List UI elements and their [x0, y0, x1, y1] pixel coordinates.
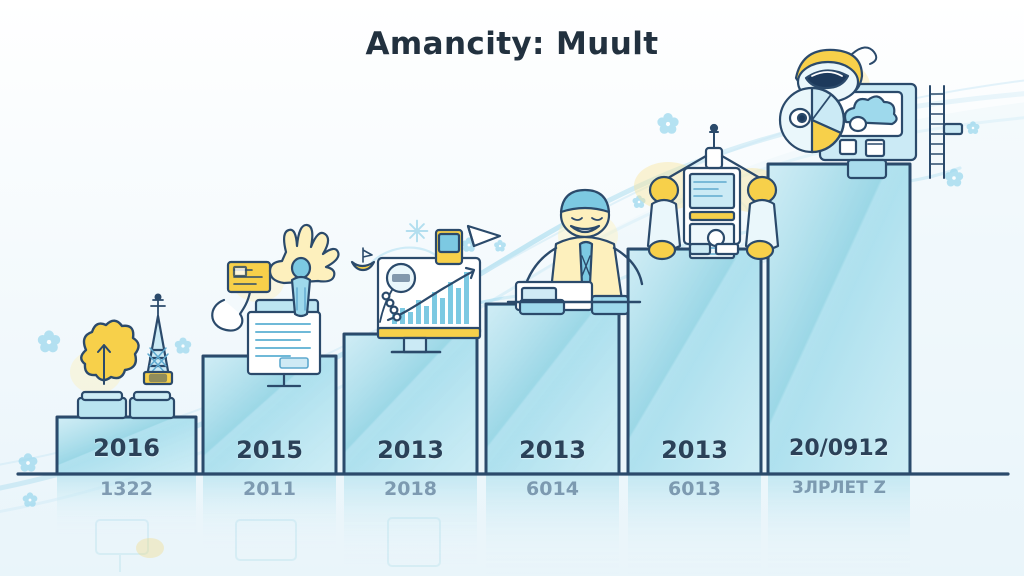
document-hand-icon [212, 225, 338, 386]
chart-title: Amancity: Muult [0, 26, 1024, 62]
kiosk-machine-icon [648, 125, 778, 259]
chart-canvas: Amancity: Muult 2016 2015 2013 2013 2013… [0, 0, 1024, 576]
tower-shield-icon [78, 295, 174, 418]
monitor-growth-chart-icon [352, 226, 500, 352]
bar-top-illustrations [0, 0, 1024, 576]
person-desk-icon [508, 190, 642, 314]
robot-machine-icon [780, 47, 962, 178]
